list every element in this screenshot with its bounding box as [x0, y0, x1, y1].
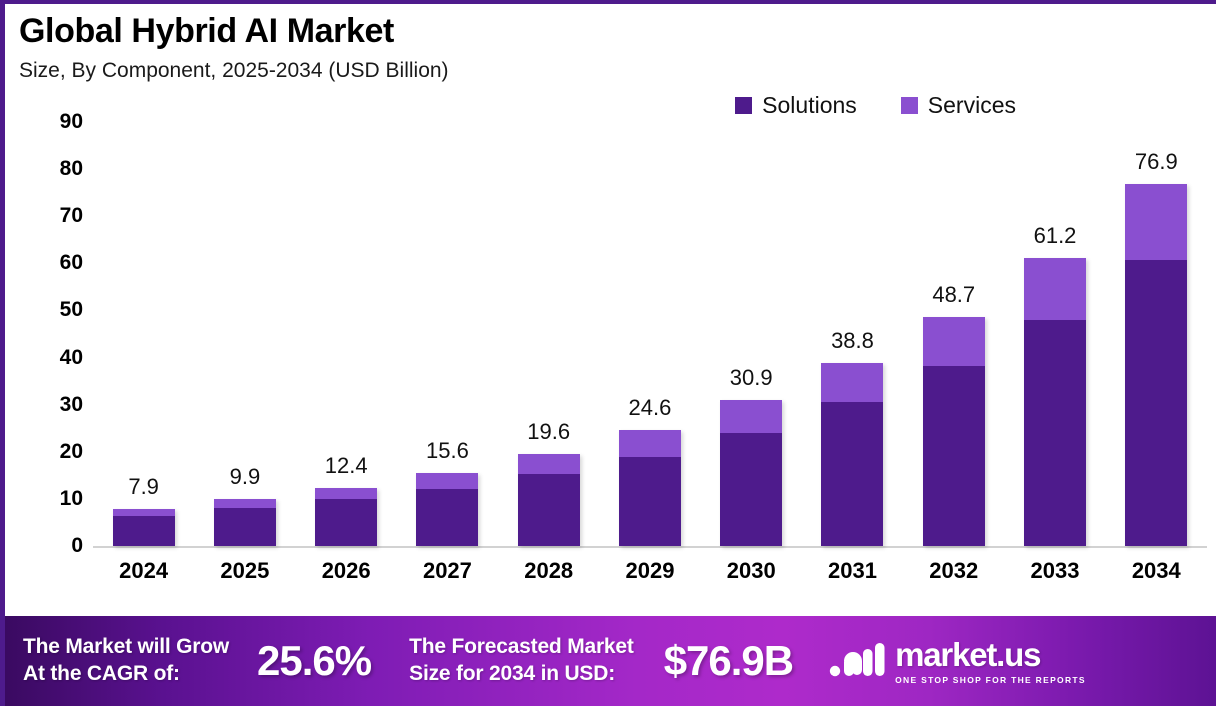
bar-value-label-2030: 30.9	[730, 365, 773, 391]
bar-column-2028[interactable]: 19.6	[498, 122, 599, 546]
bar-stack-2031[interactable]: 38.8	[821, 363, 883, 546]
forecast-caption: The Forecasted Market Size for 2034 in U…	[409, 634, 634, 688]
brand-text: market.us ONE STOP SHOP FOR THE REPORTS	[895, 638, 1086, 685]
chart-plot-area: 0102030405060708090 7.99.912.415.619.624…	[5, 122, 1216, 602]
legend-swatch-solutions	[735, 97, 752, 114]
bar-segment-services-2028[interactable]	[518, 454, 580, 475]
cagr-block: The Market will Grow At the CAGR of: 25.…	[23, 634, 371, 688]
bar-value-label-2031: 38.8	[831, 328, 874, 354]
bar-column-2025[interactable]: 9.9	[194, 122, 295, 546]
bar-stack-2028[interactable]: 19.6	[518, 454, 580, 546]
y-axis: 0102030405060708090	[27, 122, 83, 546]
bar-segment-solutions-2028[interactable]	[518, 474, 580, 546]
x-axis-tick-2031: 2031	[802, 558, 903, 584]
legend-label-solutions: Solutions	[762, 92, 857, 119]
bar-value-label-2027: 15.6	[426, 438, 469, 464]
bar-stack-2027[interactable]: 15.6	[416, 473, 478, 546]
bar-stack-2033[interactable]: 61.2	[1024, 258, 1086, 546]
legend-item-services[interactable]: Services	[901, 92, 1016, 119]
bar-segment-solutions-2029[interactable]	[619, 457, 681, 547]
bar-segment-services-2025[interactable]	[214, 499, 276, 508]
bar-group: 7.99.912.415.619.624.630.938.848.761.276…	[93, 122, 1207, 546]
cagr-caption: The Market will Grow At the CAGR of:	[23, 634, 229, 688]
bar-segment-solutions-2026[interactable]	[315, 499, 377, 546]
bar-value-label-2034: 76.9	[1135, 149, 1178, 175]
x-axis-tick-2034: 2034	[1106, 558, 1207, 584]
y-axis-tick-30: 30	[60, 393, 83, 417]
forecast-block: The Forecasted Market Size for 2034 in U…	[409, 634, 793, 688]
bar-column-2026[interactable]: 12.4	[296, 122, 397, 546]
y-axis-tick-20: 20	[60, 440, 83, 464]
bar-segment-services-2029[interactable]	[619, 430, 681, 456]
bar-stack-2025[interactable]: 9.9	[214, 499, 276, 546]
forecast-value: $76.9B	[664, 637, 793, 685]
bar-segment-services-2032[interactable]	[923, 317, 985, 366]
bar-stack-2034[interactable]: 76.9	[1125, 184, 1187, 546]
x-axis-baseline	[93, 546, 1207, 548]
bar-value-label-2032: 48.7	[932, 282, 975, 308]
legend-label-services: Services	[928, 92, 1016, 119]
bar-value-label-2033: 61.2	[1034, 223, 1077, 249]
bar-column-2034[interactable]: 76.9	[1106, 122, 1207, 546]
bar-segment-services-2034[interactable]	[1125, 184, 1187, 260]
brand-name: market.us	[895, 638, 1086, 671]
x-axis-tick-2026: 2026	[296, 558, 397, 584]
bar-column-2029[interactable]: 24.6	[599, 122, 700, 546]
x-axis-tick-2032: 2032	[903, 558, 1004, 584]
cagr-value: 25.6%	[257, 637, 371, 685]
y-axis-tick-10: 10	[60, 487, 83, 511]
cagr-caption-line1: The Market will Grow	[23, 634, 229, 661]
bar-stack-2026[interactable]: 12.4	[315, 488, 377, 546]
bar-segment-solutions-2033[interactable]	[1024, 320, 1086, 546]
bar-segment-solutions-2032[interactable]	[923, 366, 985, 546]
bar-stack-2030[interactable]: 30.9	[720, 400, 782, 546]
bar-segment-services-2031[interactable]	[821, 363, 883, 402]
forecast-caption-line1: The Forecasted Market	[409, 634, 634, 661]
y-axis-tick-70: 70	[60, 204, 83, 228]
brand-tagline: ONE STOP SHOP FOR THE REPORTS	[895, 675, 1086, 685]
bar-segment-services-2033[interactable]	[1024, 258, 1086, 321]
chart-legend: SolutionsServices	[735, 92, 1016, 119]
y-axis-tick-0: 0	[71, 534, 83, 558]
legend-swatch-services	[901, 97, 918, 114]
y-axis-tick-50: 50	[60, 298, 83, 322]
bar-segment-solutions-2031[interactable]	[821, 402, 883, 546]
forecast-caption-line2: Size for 2034 in USD:	[409, 661, 634, 688]
cagr-caption-line2: At the CAGR of:	[23, 661, 229, 688]
bar-stack-2029[interactable]: 24.6	[619, 430, 681, 546]
bar-column-2033[interactable]: 61.2	[1004, 122, 1105, 546]
bar-value-label-2025: 9.9	[230, 464, 261, 490]
bar-segment-services-2030[interactable]	[720, 400, 782, 433]
bar-segment-solutions-2027[interactable]	[416, 489, 478, 546]
brand-logo[interactable]: market.us ONE STOP SHOP FOR THE REPORTS	[829, 638, 1086, 685]
infographic-root: Global Hybrid AI Market Size, By Compone…	[0, 0, 1216, 706]
bar-value-label-2028: 19.6	[527, 419, 570, 445]
x-axis-tick-2025: 2025	[194, 558, 295, 584]
y-axis-tick-40: 40	[60, 346, 83, 370]
bar-column-2030[interactable]: 30.9	[701, 122, 802, 546]
x-axis-tick-2029: 2029	[599, 558, 700, 584]
bar-stack-2032[interactable]: 48.7	[923, 317, 985, 546]
bar-value-label-2024: 7.9	[128, 474, 159, 500]
x-axis-tick-2033: 2033	[1004, 558, 1105, 584]
bar-column-2032[interactable]: 48.7	[903, 122, 1004, 546]
page-title: Global Hybrid AI Market	[19, 12, 719, 51]
chart-subtitle: Size, By Component, 2025-2034 (USD Billi…	[19, 59, 719, 83]
x-axis-tick-2030: 2030	[701, 558, 802, 584]
bar-segment-solutions-2025[interactable]	[214, 508, 276, 546]
x-axis-tick-2024: 2024	[93, 558, 194, 584]
bar-column-2024[interactable]: 7.9	[93, 122, 194, 546]
bar-segment-services-2027[interactable]	[416, 473, 478, 489]
bar-segment-services-2024[interactable]	[113, 509, 175, 516]
x-axis-tick-2028: 2028	[498, 558, 599, 584]
bar-column-2031[interactable]: 38.8	[802, 122, 903, 546]
footer-banner: The Market will Grow At the CAGR of: 25.…	[5, 616, 1216, 706]
y-axis-tick-90: 90	[60, 110, 83, 134]
y-axis-tick-60: 60	[60, 251, 83, 275]
market-us-logo-icon	[829, 639, 885, 684]
x-axis: 2024202520262027202820292030203120322033…	[93, 558, 1207, 584]
y-axis-tick-80: 80	[60, 157, 83, 181]
bar-column-2027[interactable]: 15.6	[397, 122, 498, 546]
bar-value-label-2029: 24.6	[629, 395, 672, 421]
bar-segment-services-2026[interactable]	[315, 488, 377, 500]
bar-segment-solutions-2030[interactable]	[720, 433, 782, 546]
bar-segment-solutions-2034[interactable]	[1125, 260, 1187, 546]
bar-stack-2024[interactable]: 7.9	[113, 509, 175, 546]
chart-header: Global Hybrid AI Market Size, By Compone…	[19, 12, 719, 83]
legend-item-solutions[interactable]: Solutions	[735, 92, 857, 119]
bar-segment-solutions-2024[interactable]	[113, 516, 175, 546]
x-axis-tick-2027: 2027	[397, 558, 498, 584]
bar-value-label-2026: 12.4	[325, 453, 368, 479]
